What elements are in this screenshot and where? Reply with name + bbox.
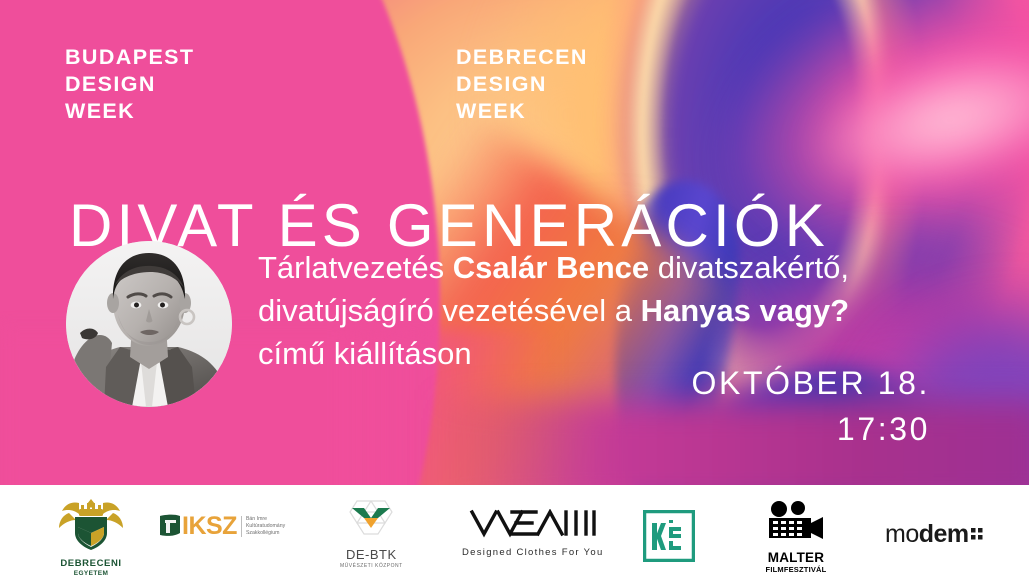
logo-debtk: DE-BTK MŰVÉSZETI KÖZPONT bbox=[340, 498, 403, 569]
modem-dots-icon bbox=[970, 524, 984, 546]
logo-iksz-note: Bán Imre Kultúratudomány Szakkollégium bbox=[241, 516, 285, 537]
body-line1-post: divatszakértő, bbox=[649, 250, 849, 285]
kicker-budapest-design-week: BUDAPEST DESIGN WEEK bbox=[65, 44, 194, 125]
iksz-mark-icon bbox=[158, 513, 182, 539]
logo-malter: MALTER FILMFESZTIVÁL bbox=[765, 501, 827, 574]
logo-malter-sub: FILMFESZTIVÁL bbox=[765, 565, 827, 574]
logo-weam: Designed Clothes For You bbox=[462, 509, 604, 558]
logo-iksz-word: IKSZ bbox=[182, 514, 237, 539]
logo-weam-sub: Designed Clothes For You bbox=[462, 547, 604, 558]
logo-malter-main: MALTER bbox=[765, 550, 827, 565]
body-exhibition-title: Hanyas vagy? bbox=[641, 293, 850, 328]
logo-kek bbox=[643, 510, 695, 562]
body-speaker-name: Csalár Bence bbox=[453, 250, 649, 285]
event-poster: BUDAPEST DESIGN WEEK DEBRECEN DESIGN WEE… bbox=[0, 0, 1029, 580]
event-date: OKTÓBER 18. bbox=[520, 360, 930, 406]
body-line3: című kiállításon bbox=[258, 336, 472, 371]
gradient-pink-streak bbox=[790, 25, 1029, 214]
logo-modem-light: mo bbox=[885, 520, 919, 549]
hexagon-icon bbox=[342, 498, 400, 542]
logo-unideb: DEBRECENI EGYETEM bbox=[55, 497, 127, 577]
logo-iksz: IKSZ Bán Imre Kultúratudomány Szakkollég… bbox=[158, 513, 285, 539]
logo-debtk-main: DE-BTK bbox=[340, 547, 403, 562]
logo-debtk-sub: MŰVÉSZETI KÖZPONT bbox=[340, 563, 403, 569]
event-time: 17:30 bbox=[520, 406, 930, 452]
event-datetime: OKTÓBER 18. 17:30 bbox=[520, 360, 930, 452]
logo-unideb-sub: EGYETEM bbox=[55, 570, 127, 577]
body-line1-pre: Tárlatvezetés bbox=[258, 250, 453, 285]
kicker-debrecen-design-week: DEBRECEN DESIGN WEEK bbox=[456, 44, 588, 125]
portrait-illustration bbox=[66, 241, 232, 407]
logo-modem-bold: dem bbox=[919, 520, 969, 549]
logo-unideb-main: DEBRECENI bbox=[55, 558, 127, 569]
film-camera-icon bbox=[765, 501, 827, 545]
portrait-photo bbox=[66, 241, 232, 407]
weam-mark-icon bbox=[468, 509, 598, 539]
crest-icon bbox=[55, 497, 127, 553]
poster-body-text: Tárlatvezetés Csalár Bence divatszakértő… bbox=[258, 246, 958, 375]
logo-modem: modem bbox=[885, 520, 984, 549]
kek-square-icon bbox=[643, 510, 695, 562]
body-line2-pre: divatújságíró vezetésével a bbox=[258, 293, 641, 328]
